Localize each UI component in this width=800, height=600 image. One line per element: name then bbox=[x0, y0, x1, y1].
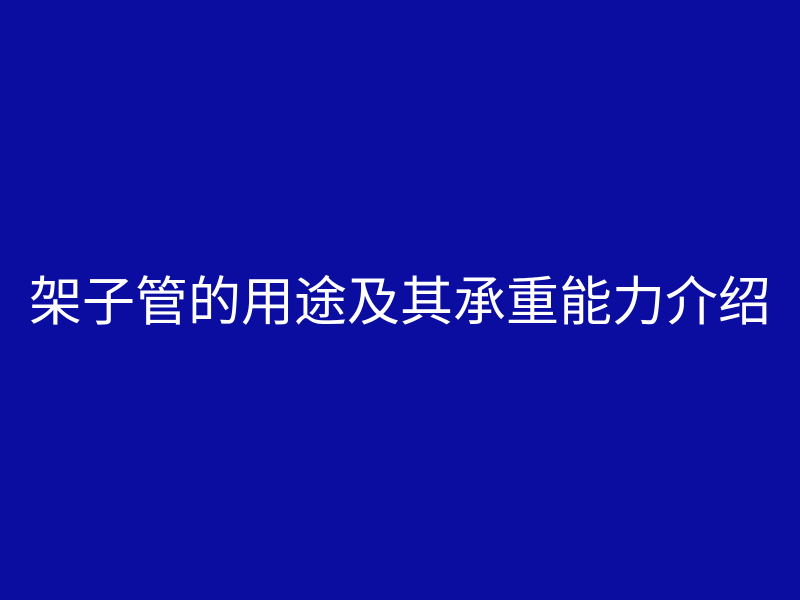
headline-container: 架子管的用途及其承重能力介绍 bbox=[0, 272, 800, 332]
page-title: 架子管的用途及其承重能力介绍 bbox=[29, 276, 771, 329]
title-card: 架子管的用途及其承重能力介绍 bbox=[0, 0, 800, 600]
